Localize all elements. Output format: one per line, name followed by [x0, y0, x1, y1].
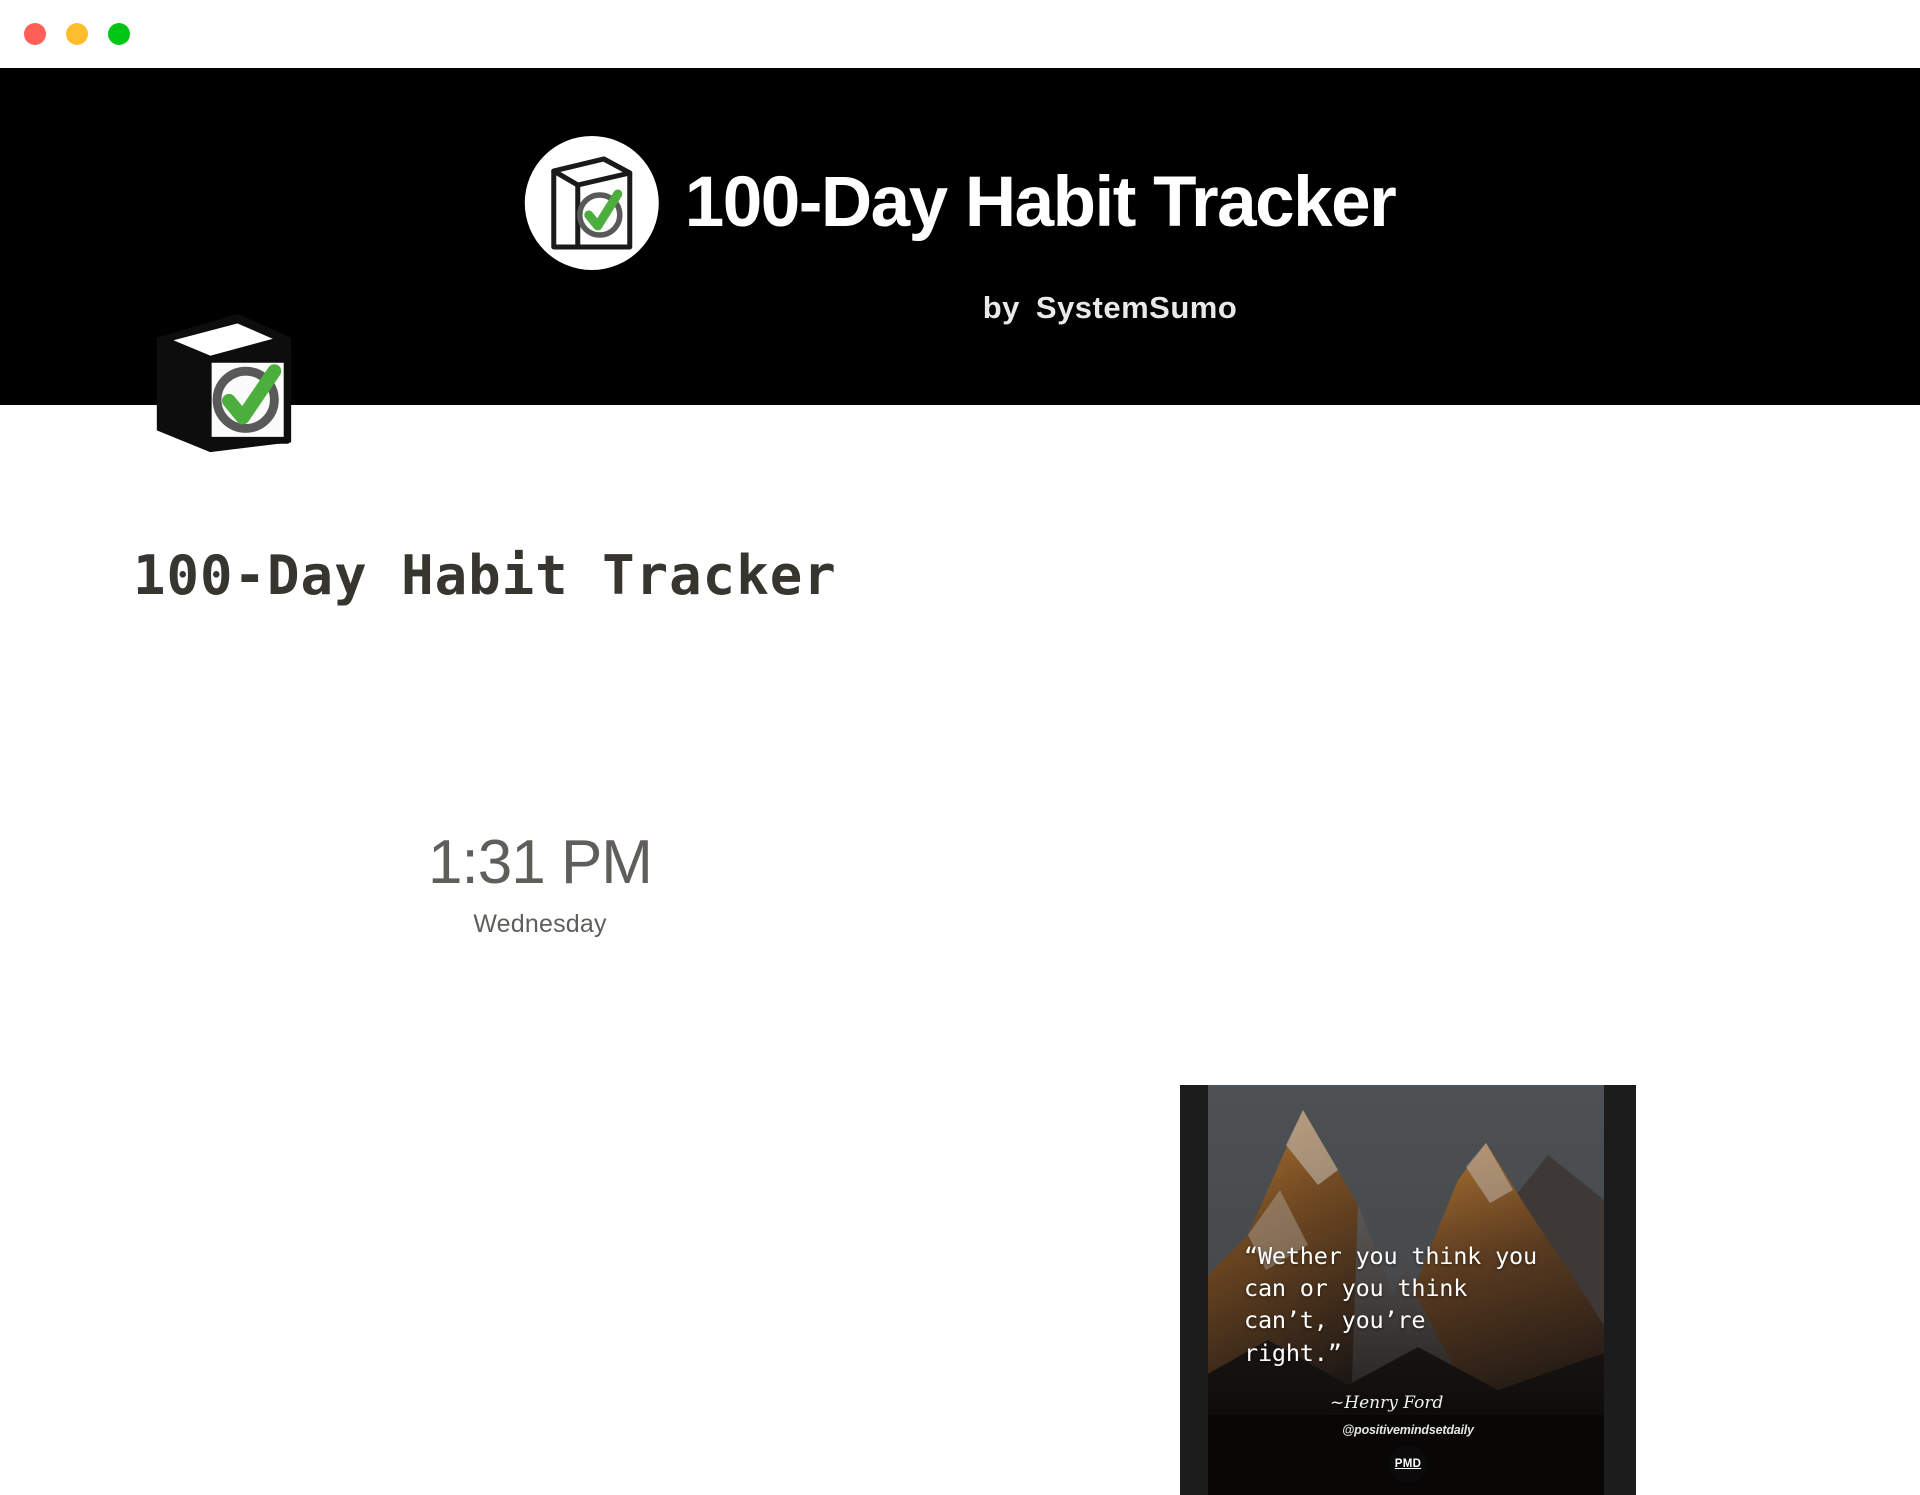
close-window-button[interactable] — [24, 23, 46, 45]
byline-prefix: by — [983, 290, 1020, 325]
byline-brand: SystemSumo — [1036, 290, 1237, 325]
habit-box-check-icon — [525, 136, 659, 270]
brand-row: 100-Day Habit Tracker — [525, 136, 1395, 270]
cover-byline: bySystemSumo — [983, 290, 1238, 326]
clock-time: 1:31 PM — [428, 832, 652, 894]
maximize-window-button[interactable] — [108, 23, 130, 45]
quote-handle: @positivemindsetdaily — [1180, 1423, 1636, 1437]
traffic-lights — [24, 23, 130, 45]
quote-text: “Wether you think you can or you think c… — [1244, 1240, 1564, 1369]
pmd-badge-label: PMD — [1395, 1458, 1421, 1470]
page-body: 100-Day Habit Tracker 1:31 PM Wednesday — [0, 405, 1920, 1200]
quote-image-embed[interactable]: “Wether you think you can or you think c… — [1180, 1085, 1636, 1495]
cover-brand-title: 100-Day Habit Tracker — [685, 167, 1395, 238]
minimize-window-button[interactable] — [66, 23, 88, 45]
pmd-badge: PMD — [1389, 1445, 1427, 1483]
clock-widget[interactable]: 1:31 PM Wednesday — [290, 675, 790, 1095]
page-title[interactable]: 100-Day Habit Tracker — [133, 544, 837, 607]
window-titlebar — [0, 0, 1920, 68]
page-icon[interactable] — [143, 304, 301, 462]
cover-brand-block: 100-Day Habit Tracker bySystemSumo — [525, 136, 1395, 326]
clock-day: Wednesday — [473, 910, 606, 939]
quote-author: ~Henry Ford — [1330, 1393, 1443, 1413]
